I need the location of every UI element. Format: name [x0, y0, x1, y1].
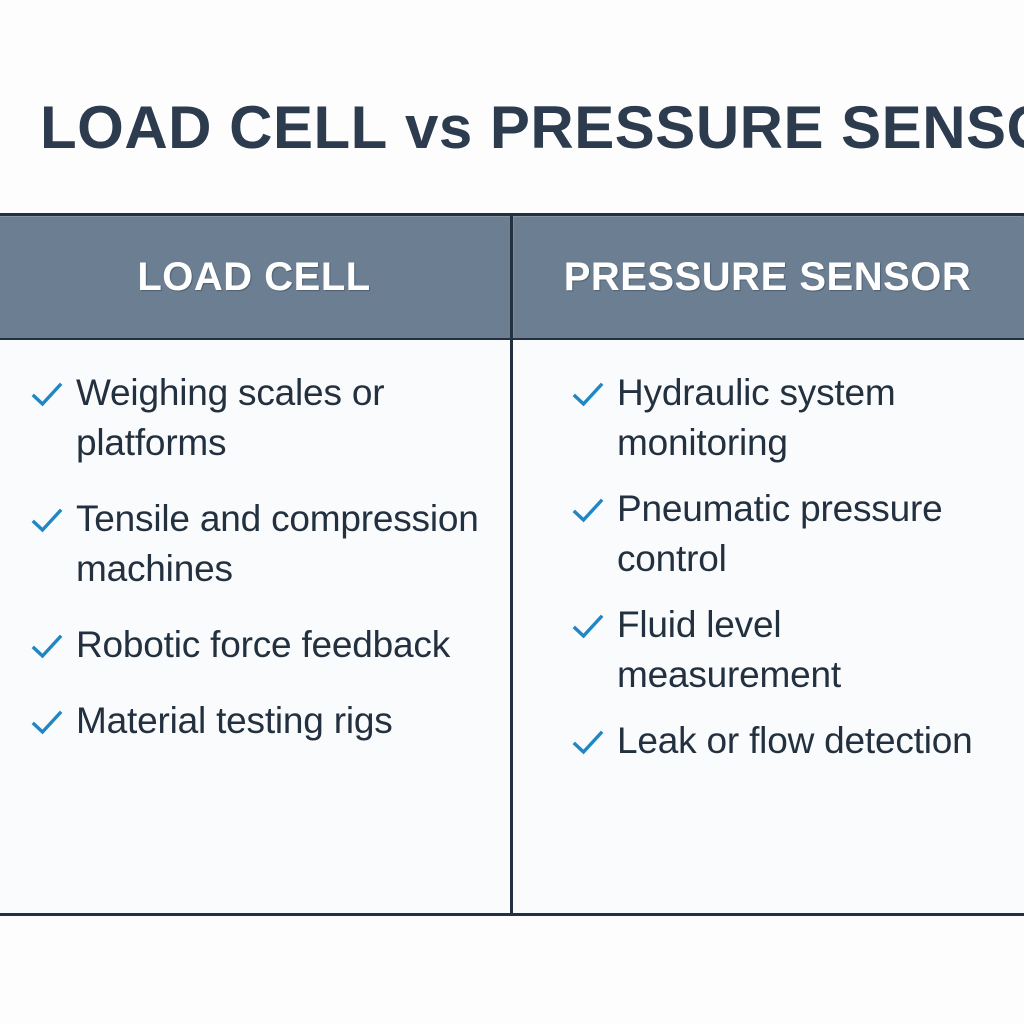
list-item: Weighing scales or platforms [30, 368, 486, 468]
check-icon [30, 706, 64, 740]
check-icon [571, 494, 605, 528]
column-header-load-cell: LOAD CELL [0, 216, 510, 338]
check-icon [30, 378, 64, 412]
list-item-label: Material testing rigs [76, 696, 393, 746]
check-icon [30, 630, 64, 664]
list-item: Robotic force feedback [30, 620, 486, 670]
list-item: Fluid level measurement [571, 600, 998, 700]
column-header-label: LOAD CELL [137, 255, 370, 300]
column-header-label: PRESSURE SENSOR [564, 255, 972, 300]
check-icon [571, 378, 605, 412]
page-title: LOAD CELL vs PRESSURE SENSOR [40, 92, 1024, 172]
list-item-label: Pneumatic pressure control [617, 484, 998, 584]
list-item-label: Weighing scales or platforms [76, 368, 486, 468]
list-item-label: Hydraulic system monitoring [617, 368, 998, 468]
table-body-row: Weighing scales or platforms Tensile and… [0, 340, 1024, 913]
check-icon [571, 610, 605, 644]
check-icon [571, 726, 605, 760]
page-title-part-1: LOAD CELL [40, 94, 388, 161]
table-header-row: LOAD CELL PRESSURE SENSOR [0, 216, 1024, 340]
list-item-label: Fluid level measurement [617, 600, 998, 700]
comparison-table: LOAD CELL PRESSURE SENSOR Weighing scale… [0, 213, 1024, 916]
list-item-label: Leak or flow detection [617, 716, 973, 766]
page-title-vs: vs [405, 94, 473, 161]
page-title-part-2: PRESSURE SENSOR [490, 94, 1024, 161]
column-body-load-cell: Weighing scales or platforms Tensile and… [0, 340, 510, 913]
list-item-label: Robotic force feedback [76, 620, 450, 670]
list-item-label: Tensile and compression machines [76, 494, 486, 594]
column-body-pressure-sensor: Hydraulic system monitoring Pneumatic pr… [510, 340, 1022, 913]
list-item: Leak or flow detection [571, 716, 998, 766]
comparison-table-page: LOAD CELL vs PRESSURE SENSOR LOAD CELL P… [0, 0, 1024, 1024]
list-item: Pneumatic pressure control [571, 484, 998, 584]
check-icon [30, 504, 64, 538]
list-item: Hydraulic system monitoring [571, 368, 998, 468]
list-item: Tensile and compression machines [30, 494, 486, 594]
column-header-pressure-sensor: PRESSURE SENSOR [510, 216, 1022, 338]
list-item: Material testing rigs [30, 696, 486, 746]
